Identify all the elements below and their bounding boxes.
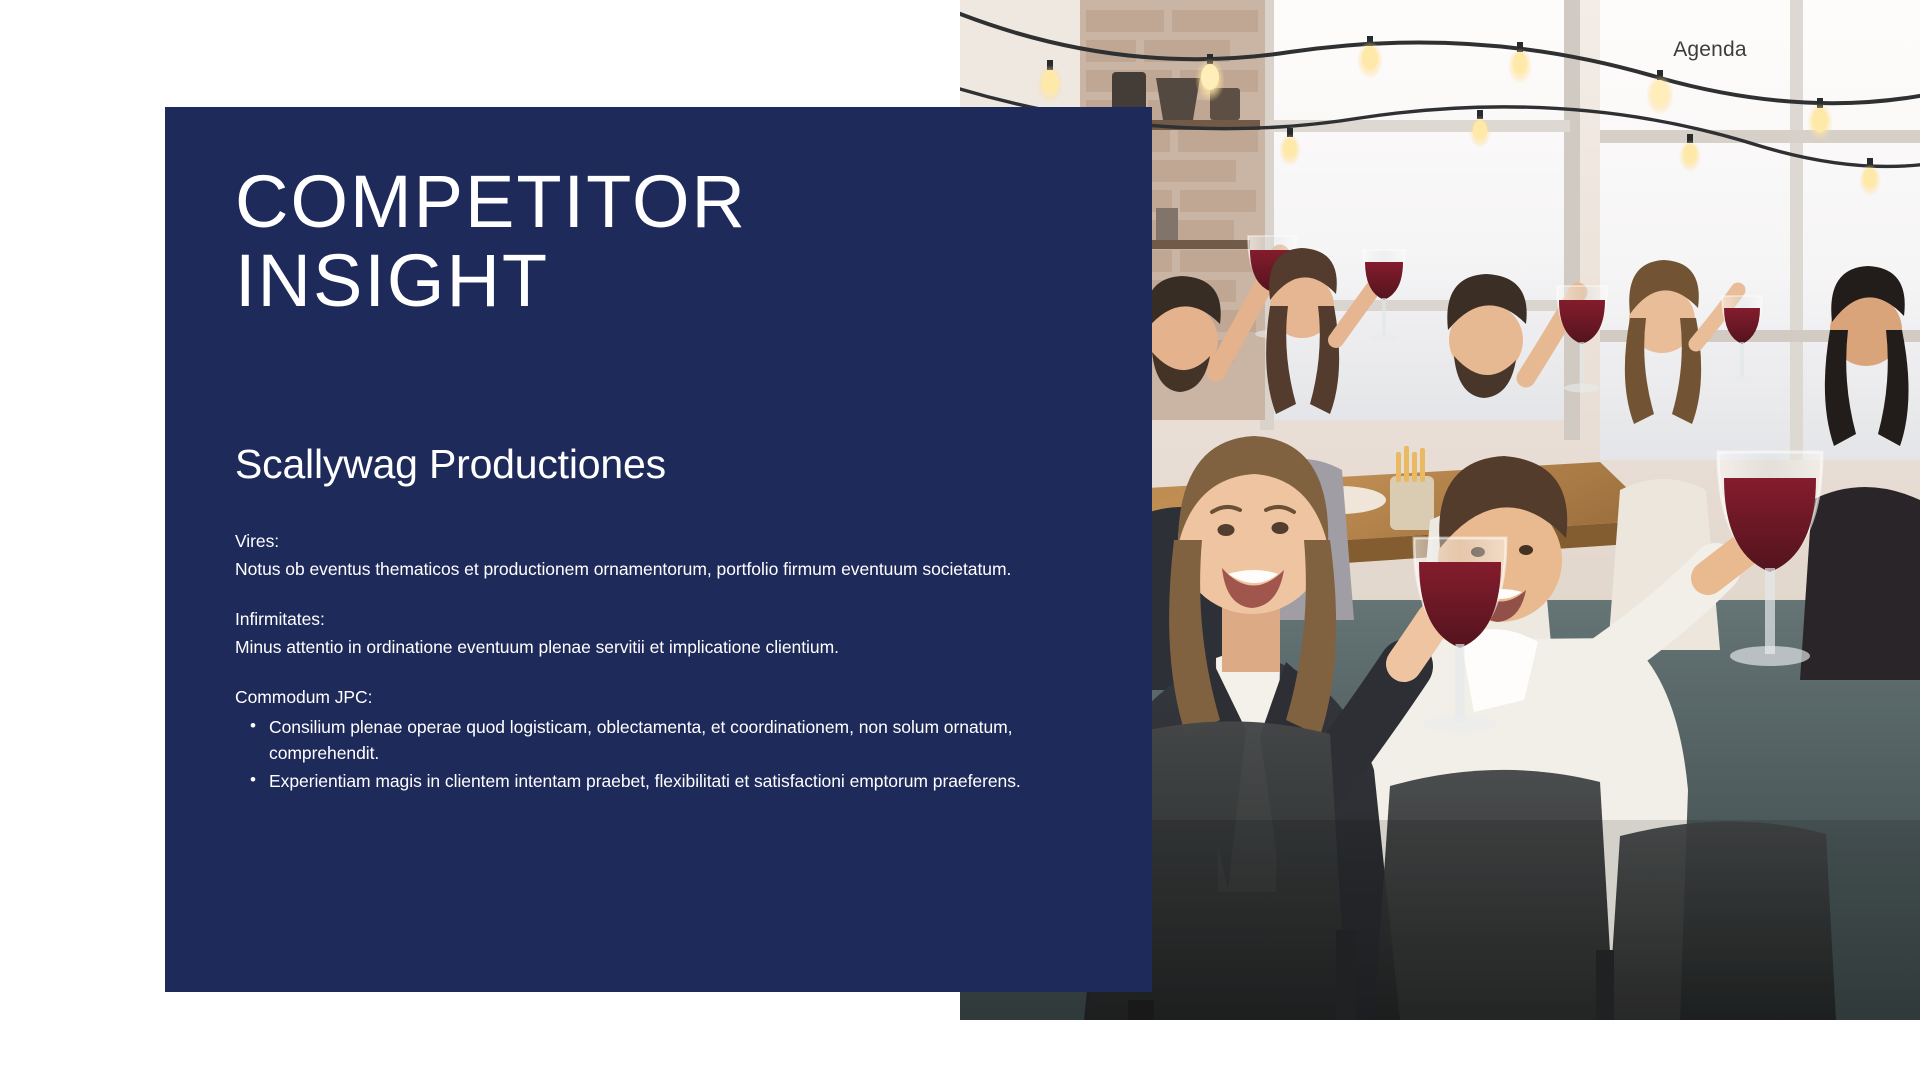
slide-title: COMPETITOR INSIGHT xyxy=(235,162,1112,320)
content-panel: COMPETITOR INSIGHT Scallywag Productione… xyxy=(165,107,1152,992)
agenda-label[interactable]: Agenda xyxy=(1630,38,1790,62)
panel-content: COMPETITOR INSIGHT Scallywag Productione… xyxy=(235,162,1112,796)
strengths-heading: Vires: xyxy=(235,528,1112,555)
photo-bottom-band xyxy=(960,1020,1920,1080)
weaknesses-heading: Infirmitates: xyxy=(235,606,1112,633)
strengths-text: Notus ob eventus thematicos et productio… xyxy=(235,556,1112,583)
body-content: Vires: Notus ob eventus thematicos et pr… xyxy=(235,490,1112,795)
weaknesses-text: Minus attentio in ordinatione eventuum p… xyxy=(235,634,1112,661)
section-advantage: Commodum JPC: Consilium plenae operae qu… xyxy=(235,684,1112,794)
advantage-bullet-list: Consilium plenae operae quod logisticam,… xyxy=(235,714,1112,795)
company-name: Scallywag Productiones xyxy=(235,320,1112,489)
section-weaknesses: Infirmitates: Minus attentio in ordinati… xyxy=(235,606,1112,661)
list-item: Consilium plenae operae quod logisticam,… xyxy=(269,714,1112,767)
slide-root: Agenda COMPETITOR INSIGHT Scallywag Prod… xyxy=(0,0,1920,1080)
list-item: Experientiam magis in clientem intentam … xyxy=(269,768,1112,794)
advantage-heading: Commodum JPC: xyxy=(235,684,1112,711)
section-strengths: Vires: Notus ob eventus thematicos et pr… xyxy=(235,528,1112,583)
